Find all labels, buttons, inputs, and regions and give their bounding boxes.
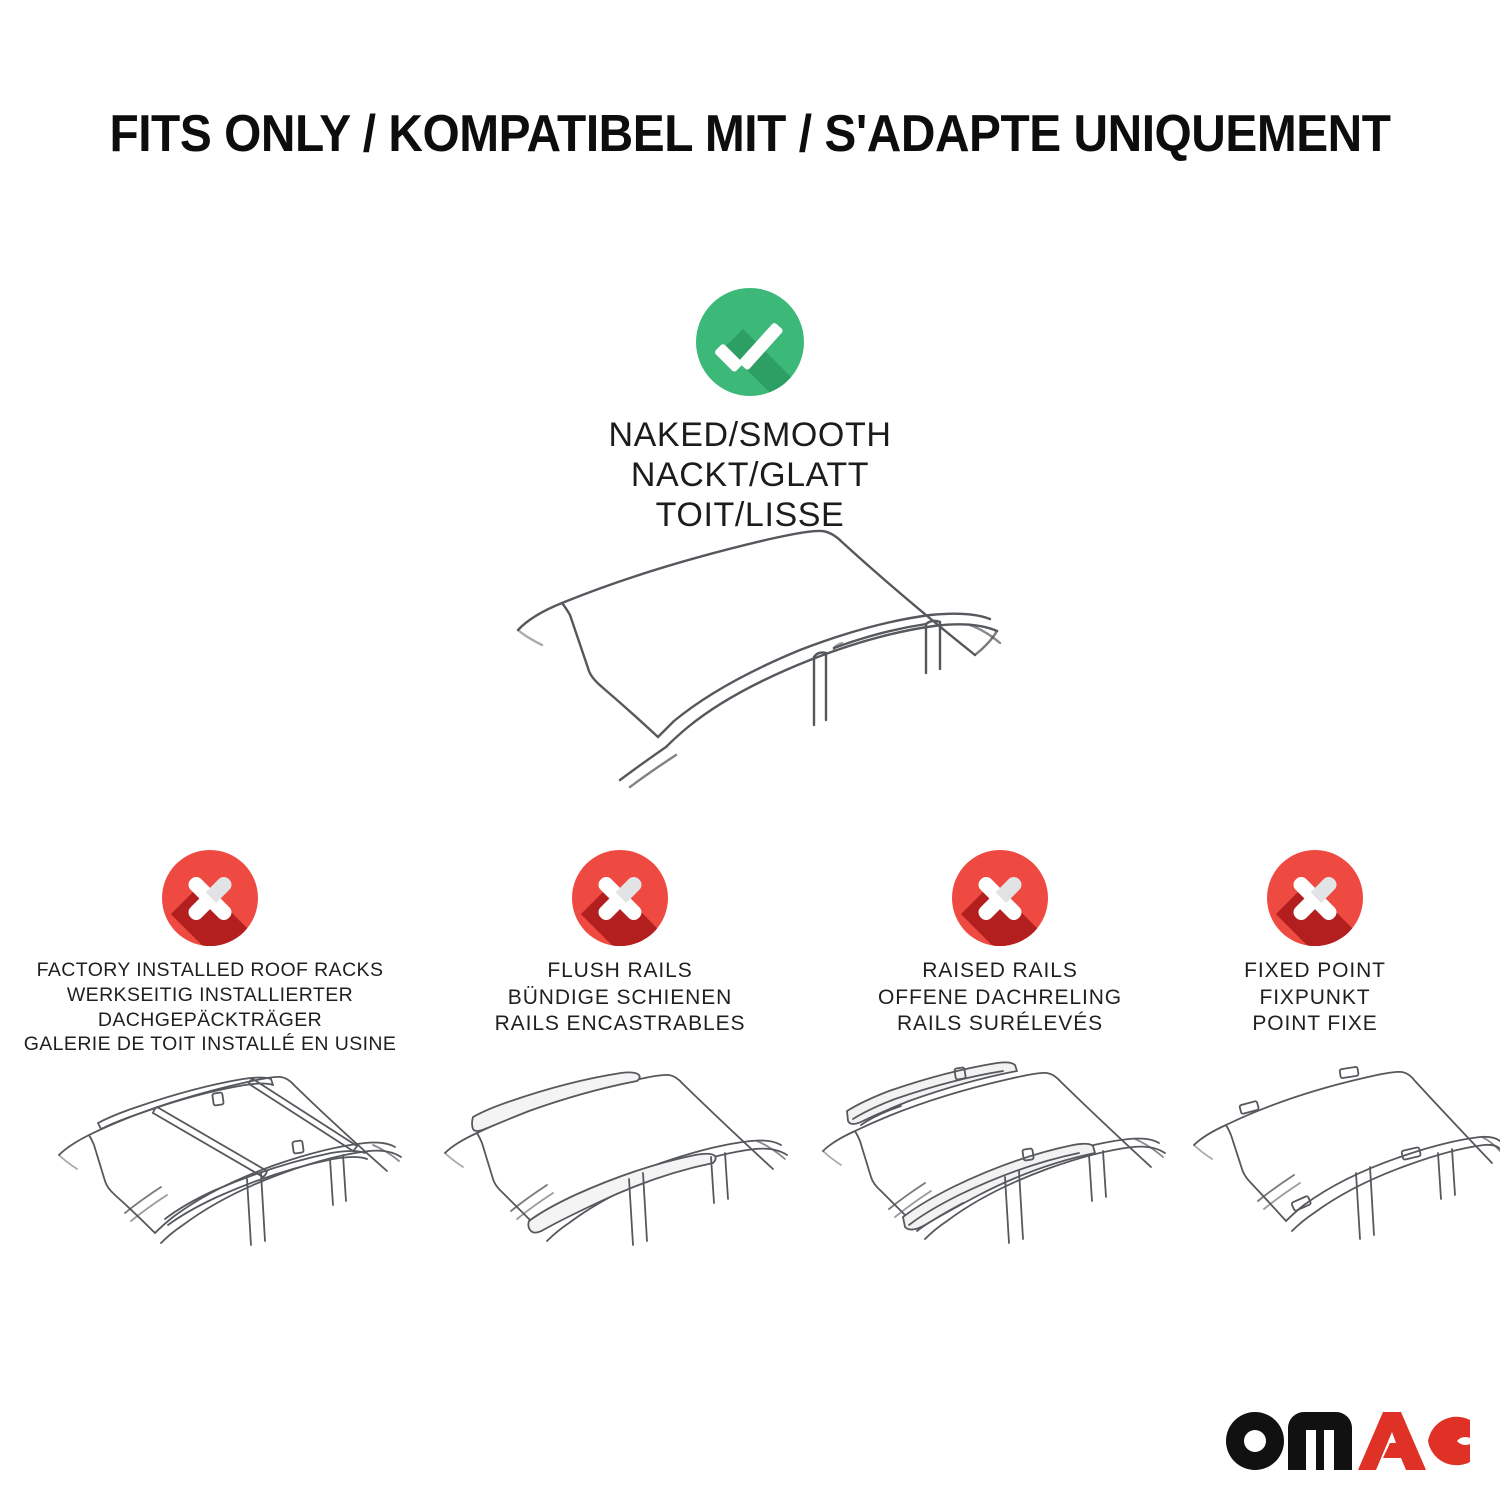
incompatible-label-4-de: FIXPUNKT	[1155, 985, 1475, 1012]
incompatible-labels-3: RAISED RAILS OFFENE DACHRELING RAILS SUR…	[805, 958, 1195, 1038]
x-circle-icon	[1267, 850, 1363, 946]
x-circle-icon	[952, 850, 1048, 946]
incompatible-label-4-fr: POINT FIXE	[1155, 1011, 1475, 1038]
icon-wrap	[1155, 850, 1475, 954]
incompatible-roof-type-block-3: RAISED RAILS OFFENE DACHRELING RAILS SUR…	[805, 850, 1195, 1038]
car-roof-fixed-point-illustration	[1180, 1045, 1500, 1295]
incompatible-label-1-en: FACTORY INSTALLED ROOF RACKS	[10, 958, 410, 983]
incompatible-label-3-fr: RAILS SURÉLEVÉS	[805, 1011, 1195, 1038]
compatible-roof-type-block: NAKED/SMOOTH NACKT/GLATT TOIT/LISSE	[0, 288, 1500, 535]
incompatible-label-2-en: FLUSH RAILS	[425, 958, 815, 985]
logo-text: OMAC	[1220, 1406, 1268, 1410]
x-circle-icon	[572, 850, 668, 946]
incompatible-roof-type-block-4: FIXED POINT FIXPUNKT POINT FIXE	[1155, 850, 1475, 1038]
incompatible-label-2-de: BÜNDIGE SCHIENEN	[425, 985, 815, 1012]
omac-logo: OMAC	[1220, 1406, 1470, 1478]
check-circle-icon	[696, 288, 804, 396]
incompatible-roof-type-block-1: FACTORY INSTALLED ROOF RACKS WERKSEITIG …	[10, 850, 410, 1057]
compatible-label-en: NAKED/SMOOTH	[0, 415, 1500, 455]
car-roof-flush-rails-illustration	[425, 1045, 815, 1295]
incompatible-label-2-fr: RAILS ENCASTRABLES	[425, 1011, 815, 1038]
logo-letter-m	[1288, 1412, 1352, 1470]
logo-letter-o	[1226, 1412, 1284, 1470]
incompatible-label-1-de: WERKSEITIG INSTALLIERTER DACHGEPÄCKTRÄGE…	[10, 983, 410, 1033]
incompatible-labels-2: FLUSH RAILS BÜNDIGE SCHIENEN RAILS ENCAS…	[425, 958, 815, 1038]
car-roof-raised-rails-illustration	[805, 1045, 1195, 1295]
incompatible-label-4-en: FIXED POINT	[1155, 958, 1475, 985]
x-circle-icon	[162, 850, 258, 946]
icon-wrap	[805, 850, 1195, 954]
car-roof-factory-racks-illustration	[35, 1045, 435, 1295]
car-roof-naked-smooth-illustration	[470, 515, 1050, 815]
incompatible-label-3-en: RAISED RAILS	[805, 958, 1195, 985]
icon-wrap	[10, 850, 410, 954]
incompatible-labels-4: FIXED POINT FIXPUNKT POINT FIXE	[1155, 958, 1475, 1038]
incompatible-label-3-de: OFFENE DACHRELING	[805, 985, 1195, 1012]
logo-letter-c	[1428, 1417, 1470, 1466]
icon-wrap	[425, 850, 815, 954]
compatible-label-de: NACKT/GLATT	[0, 455, 1500, 495]
incompatible-roof-type-block-2: FLUSH RAILS BÜNDIGE SCHIENEN RAILS ENCAS…	[425, 850, 815, 1038]
incompatible-labels-1: FACTORY INSTALLED ROOF RACKS WERKSEITIG …	[10, 958, 410, 1057]
page-title: FITS ONLY / KOMPATIBEL MIT / S'ADAPTE UN…	[60, 104, 1440, 164]
logo-letter-a	[1358, 1412, 1426, 1470]
